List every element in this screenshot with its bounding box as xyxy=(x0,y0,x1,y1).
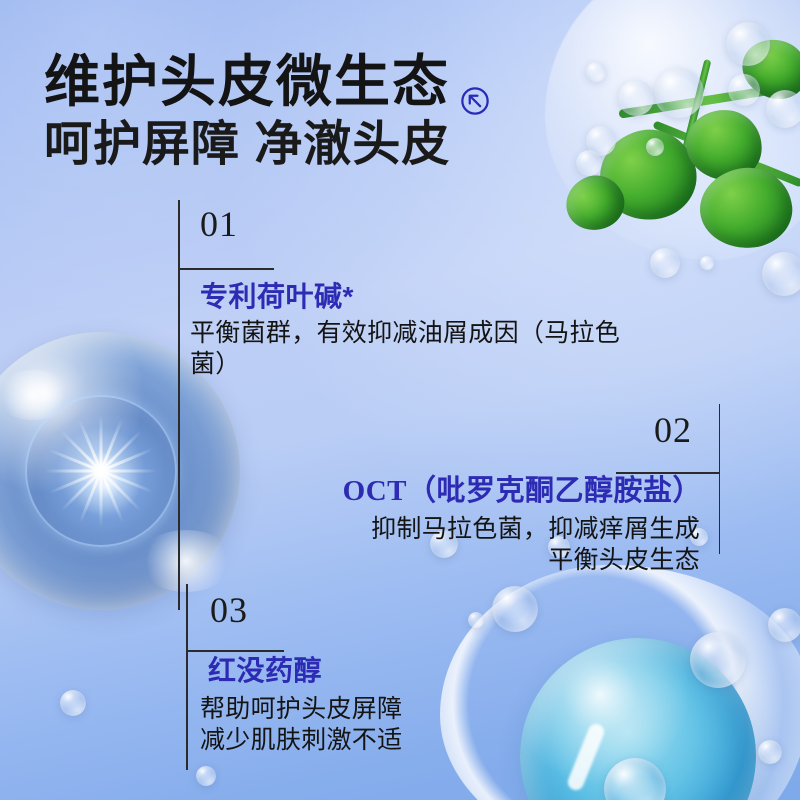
section-03-heading: 红没药醇 xyxy=(208,654,322,688)
section-03-body-line-2: 减少肌肤刺激不适 xyxy=(200,725,402,756)
section-02-vertical-rule xyxy=(719,404,721,554)
section-01-vertical-rule xyxy=(178,200,180,610)
section-03-horizontal-rule xyxy=(186,650,284,652)
section-02-body-line-1: 抑制马拉色菌，抑减痒屑生成 xyxy=(371,514,700,545)
section-01-horizontal-rule xyxy=(178,268,274,270)
section-03-number: 03 xyxy=(210,592,248,628)
circle-arrow-upleft-icon xyxy=(460,67,490,97)
section-02-heading: OCT（吡罗克酮乙醇胺盐） xyxy=(343,474,702,509)
section-01-heading: 专利荷叶碱* xyxy=(200,280,354,314)
page-title: 维护头皮微生态 呵护屏障 净澈头皮 xyxy=(44,52,490,174)
section-03-body-line-1: 帮助呵护头皮屏障 xyxy=(200,694,402,725)
section-03-vertical-rule xyxy=(186,584,188,770)
section-02-body-line-2: 平衡头皮生态 xyxy=(371,545,700,576)
section-01-body: 平衡菌群，有效抑减油屑成因（马拉色菌） xyxy=(190,318,622,379)
section-03-body: 帮助呵护头皮屏障 减少肌肤刺激不适 xyxy=(200,694,402,755)
section-02-body: 抑制马拉色菌，抑减痒屑生成 平衡头皮生态 xyxy=(371,514,700,575)
title-sub-text: 呵护屏障 净澈头皮 xyxy=(44,117,490,174)
title-main-text: 维护头皮微生态 xyxy=(44,52,450,111)
section-02-number: 02 xyxy=(654,412,692,448)
section-01-number: 01 xyxy=(200,206,238,242)
poster-canvas: 维护头皮微生态 呵护屏障 净澈头皮 01 专利荷叶碱* 平衡菌群，有效抑减油屑成… xyxy=(0,0,800,800)
